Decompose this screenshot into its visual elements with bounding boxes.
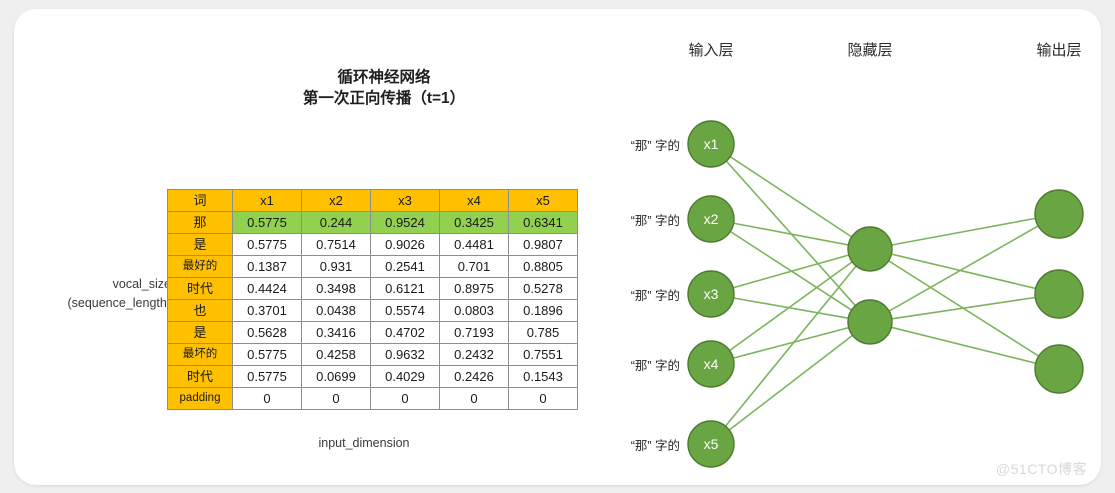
table-cell: 0 <box>233 388 302 410</box>
column-header-x1: x1 <box>233 190 302 212</box>
table-cell: 0.0438 <box>302 300 371 322</box>
input-side-label-x1: “那” 字的 <box>570 135 680 154</box>
table-cell: 0.5775 <box>233 344 302 366</box>
vocal-size-label: vocal_size (sequence_length) <box>34 275 171 313</box>
table-cell: 0.4258 <box>302 344 371 366</box>
edge-input-hidden <box>734 223 849 245</box>
hidden-node-2[interactable] <box>848 300 892 344</box>
edge-hidden-output <box>891 327 1035 363</box>
table-cell: 0.5775 <box>233 366 302 388</box>
input-side-label-x4: “那” 字的 <box>570 355 680 374</box>
row-label: 时代 <box>168 278 233 300</box>
table-cell: 0.2541 <box>371 256 440 278</box>
table-cell: 0.3498 <box>302 278 371 300</box>
vocal-size-text: vocal_size <box>34 275 171 294</box>
table-cell: 0.785 <box>509 322 578 344</box>
table-cell: 0.6341 <box>509 212 578 234</box>
table-row: 时代0.44240.34980.61210.89750.5278 <box>168 278 578 300</box>
table-row: 是0.57750.75140.90260.44810.9807 <box>168 234 578 256</box>
table-cell: 0.8975 <box>440 278 509 300</box>
table-cell: 0.1543 <box>509 366 578 388</box>
table-cell: 0 <box>302 388 371 410</box>
edge-input-hidden <box>726 266 857 426</box>
output-node-2[interactable] <box>1035 270 1083 318</box>
input-node-x3-label: x3 <box>704 286 719 302</box>
input-node-x5-label: x5 <box>704 436 719 452</box>
table-cell: 0.9807 <box>509 234 578 256</box>
row-label: padding <box>168 388 233 410</box>
table-cell: 0.5278 <box>509 278 578 300</box>
table-row: 时代0.57750.06990.40290.24260.1543 <box>168 366 578 388</box>
watermark: @51CTO博客 <box>996 459 1087 479</box>
network-diagram: x1x2x3x4x5 输入层隐藏层输出层 “那” 字的“那” 字的“那” 字的“… <box>574 27 1101 485</box>
table-cell: 0.5775 <box>233 212 302 234</box>
table-cell: 0.7193 <box>440 322 509 344</box>
table-row: 最好的0.13870.9310.25410.7010.8805 <box>168 256 578 278</box>
title-line-1: 循环神经网络 <box>249 67 519 88</box>
row-label: 最好的 <box>168 256 233 278</box>
table-cell: 0 <box>371 388 440 410</box>
column-header-x2: x2 <box>302 190 371 212</box>
column-header-x4: x4 <box>440 190 509 212</box>
network-svg: x1x2x3x4x5 <box>574 27 1101 485</box>
table-cell: 0.2426 <box>440 366 509 388</box>
table-cell: 0.1387 <box>233 256 302 278</box>
table-row: 是0.56280.34160.47020.71930.785 <box>168 322 578 344</box>
table-cell: 0.701 <box>440 256 509 278</box>
table-cell: 0.0699 <box>302 366 371 388</box>
table-cell: 0.7551 <box>509 344 578 366</box>
table-cell: 0.1896 <box>509 300 578 322</box>
input-node-x2-label: x2 <box>704 211 719 227</box>
output-node-1[interactable] <box>1035 190 1083 238</box>
table-cell: 0.4029 <box>371 366 440 388</box>
table-body: 词x1x2x3x4x5那0.57750.2440.95240.34250.634… <box>168 190 578 410</box>
embedding-matrix-table: 词x1x2x3x4x5那0.57750.2440.95240.34250.634… <box>167 189 578 410</box>
input-node-x4-label: x4 <box>704 356 719 372</box>
output-node-3[interactable] <box>1035 345 1083 393</box>
table-cell: 0.3701 <box>233 300 302 322</box>
table-cell: 0.9632 <box>371 344 440 366</box>
row-label: 那 <box>168 212 233 234</box>
diagram-card: 循环神经网络 第一次正向传播（t=1） vocal_size (sequence… <box>14 9 1101 485</box>
network-nodes: x1x2x3x4x5 <box>688 121 1083 467</box>
row-label: 是 <box>168 234 233 256</box>
column-header-x3: x3 <box>371 190 440 212</box>
hidden-node-1[interactable] <box>848 227 892 271</box>
layer-title-input: 输入层 <box>651 39 771 60</box>
table-cell: 0.8805 <box>509 256 578 278</box>
table-cell: 0.9026 <box>371 234 440 256</box>
edge-hidden-output <box>892 298 1035 319</box>
column-header-x5: x5 <box>509 190 578 212</box>
network-edges <box>726 157 1039 430</box>
row-label: 最坏的 <box>168 344 233 366</box>
table-cell: 0.4481 <box>440 234 509 256</box>
table-cell: 0.0803 <box>440 300 509 322</box>
table-cell: 0.9524 <box>371 212 440 234</box>
edge-input-hidden <box>733 255 849 288</box>
table-cell: 0.7514 <box>302 234 371 256</box>
edge-hidden-output <box>891 254 1035 288</box>
layer-title-hidden: 隐藏层 <box>810 39 930 60</box>
table-cell: 0 <box>509 388 578 410</box>
table-cell: 0.5574 <box>371 300 440 322</box>
column-header-word: 词 <box>168 190 233 212</box>
sequence-length-text: (sequence_length) <box>34 294 171 313</box>
table-cell: 0.931 <box>302 256 371 278</box>
input-side-label-x5: “那” 字的 <box>570 435 680 454</box>
edge-input-hidden <box>730 262 853 351</box>
table-cell: 0.4702 <box>371 322 440 344</box>
row-label: 时代 <box>168 366 233 388</box>
table-row: 最坏的0.57750.42580.96320.24320.7551 <box>168 344 578 366</box>
table-cell: 0.5628 <box>233 322 302 344</box>
table-row: padding00000 <box>168 388 578 410</box>
table-cell: 0.2432 <box>440 344 509 366</box>
table-cell: 0.5775 <box>233 234 302 256</box>
table-cell: 0.6121 <box>371 278 440 300</box>
row-label: 是 <box>168 322 233 344</box>
edge-hidden-output <box>889 226 1038 311</box>
table-row: 也0.37010.04380.55740.08030.1896 <box>168 300 578 322</box>
title-line-2: 第一次正向传播（t=1） <box>249 88 519 109</box>
edge-input-hidden <box>729 335 852 430</box>
table-cell: 0 <box>440 388 509 410</box>
page-title: 循环神经网络 第一次正向传播（t=1） <box>249 67 519 109</box>
edge-input-hidden <box>734 298 849 318</box>
row-label: 也 <box>168 300 233 322</box>
input-dimension-label: input_dimension <box>219 436 509 450</box>
table-cell: 0.3425 <box>440 212 509 234</box>
edge-input-hidden <box>733 328 848 359</box>
layer-title-output: 输出层 <box>999 39 1101 60</box>
input-side-label-x2: “那” 字的 <box>570 210 680 229</box>
table-header-row: 词x1x2x3x4x5 <box>168 190 578 212</box>
input-node-x1-label: x1 <box>704 136 719 152</box>
edge-hidden-output <box>892 218 1036 245</box>
input-side-label-x3: “那” 字的 <box>570 285 680 304</box>
table-cell: 0.244 <box>302 212 371 234</box>
table-row: 那0.57750.2440.95240.34250.6341 <box>168 212 578 234</box>
table-cell: 0.3416 <box>302 322 371 344</box>
table-cell: 0.4424 <box>233 278 302 300</box>
edge-input-hidden <box>730 157 851 237</box>
